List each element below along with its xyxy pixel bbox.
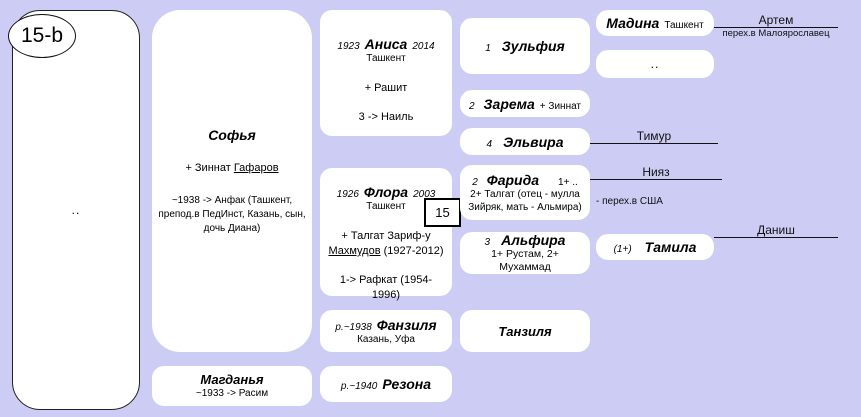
- zarema-header: 2 Зарема + Зиннат: [469, 96, 581, 112]
- relation-artem-sublabel: перех.в Малоярославец: [714, 28, 838, 39]
- box-alfira[interactable]: 3 Альфира 1+ Рустам, 2+ Мухаммад: [460, 232, 590, 274]
- genealogy-chart-canvas: .. 15-b Софья + Зиннат Гафаров ~1938 -> …: [0, 0, 861, 417]
- box-sofya[interactable]: Софья + Зиннат Гафаров ~1938 -> Анфак (Т…: [152, 10, 312, 352]
- zarema-spouse: + Зиннат: [540, 101, 581, 112]
- relation-niyaz-line: [590, 179, 722, 180]
- relation-niyaz-label: Нияз: [590, 165, 722, 179]
- flora-children: 1-> Рафкат (1954-1996): [326, 273, 446, 303]
- sheet-label-text: 15-b: [21, 24, 63, 48]
- sofya-spouse-prefix: + Зиннат: [185, 162, 230, 174]
- box-tanzilya[interactable]: Танзиля: [460, 310, 590, 352]
- sofya-children: ~1938 -> Анфак (Ташкент, препод.в ПедИнс…: [157, 194, 307, 236]
- farida-order: 2: [472, 177, 478, 188]
- anisa-children: 3 -> Наиль: [359, 110, 414, 125]
- flora-spouse-surname: Махмудов: [328, 245, 380, 257]
- column-1-placeholder: ..: [72, 203, 81, 217]
- box-rezona[interactable]: р.~1940 Резона: [320, 366, 452, 402]
- alfira-header: 3 Альфира: [485, 232, 566, 248]
- fanzilya-place: Казань, Уфа: [357, 333, 415, 346]
- relation-timur: Тимур: [590, 124, 718, 144]
- relation-danish-label: Даниш: [714, 223, 838, 237]
- fanzilya-name: Фанзиля: [377, 317, 437, 333]
- madina-place: Ташкент: [664, 20, 703, 31]
- sofya-spouse: + Зиннат Гафаров: [185, 161, 278, 176]
- zulfiya-header: 1 Зульфия: [485, 38, 565, 54]
- flora-header: 1926 Флора 2003: [337, 184, 436, 200]
- rezona-header: р.~1940 Резона: [341, 376, 431, 392]
- box-anisa[interactable]: 1923 Аниса 2014 Ташкент + Рашит 3 -> Наи…: [320, 10, 452, 136]
- zarema-order: 2: [469, 101, 475, 112]
- farida-name: Фарида: [487, 172, 539, 188]
- elvira-order: 4: [487, 139, 493, 150]
- relation-artem-label: Артем: [714, 13, 838, 27]
- elvira-name: Эльвира: [503, 134, 563, 150]
- relation-artem: Артем перех.в Малоярославец: [714, 6, 838, 28]
- box-farida[interactable]: 2 Фарида 1+ .. 2+ Талгат (отец - мулла З…: [460, 165, 590, 220]
- box-fanzilya[interactable]: р.~1938 Фанзиля Казань, Уфа: [320, 310, 452, 352]
- flora-spouse-line1: + Талгат Зариф-у: [341, 229, 430, 244]
- sheet-label-ellipse: 15-b: [8, 14, 76, 58]
- anisa-spouse: + Рашит: [365, 81, 408, 96]
- box-tamila[interactable]: (1+) Тамила: [596, 234, 714, 260]
- reference-number-text: 15: [435, 205, 449, 220]
- relation-danish: Даниш: [714, 218, 838, 238]
- magdanya-name: Магданья: [200, 372, 263, 387]
- flora-name: Флора: [364, 184, 408, 200]
- flora-place: Ташкент: [366, 200, 405, 213]
- madina-name: Мадина: [606, 15, 659, 31]
- rezona-birth: р.~1940: [341, 381, 377, 392]
- zulfiya-order: 1: [485, 43, 491, 54]
- anisa-name: Аниса: [365, 36, 408, 52]
- fanzilya-header: р.~1938 Фанзиля: [335, 317, 436, 333]
- flora-spouse-dates: (1927-2012): [384, 245, 444, 257]
- alfira-order: 3: [485, 237, 491, 248]
- box-flora[interactable]: 1926 Флора 2003 Ташкент + Талгат Зариф-у…: [320, 168, 452, 296]
- anisa-birth: 1923: [337, 41, 359, 52]
- box-magdanya[interactable]: Магданья ~1933 -> Расим: [152, 366, 312, 406]
- box-madina[interactable]: Мадина Ташкент: [596, 10, 714, 36]
- flora-birth: 1926: [337, 189, 359, 200]
- alfira-name: Альфира: [501, 232, 565, 248]
- alfira-detail: 1+ Рустам, 2+ Мухаммад: [464, 248, 586, 274]
- box-zulfiya[interactable]: 1 Зульфия: [460, 18, 590, 74]
- unnamed-child-label: ..: [651, 57, 660, 71]
- relation-timur-label: Тимур: [590, 129, 718, 143]
- anisa-death: 2014: [412, 41, 434, 52]
- note-moved-usa: - перех.в США: [596, 196, 663, 207]
- relation-danish-line: [714, 237, 838, 238]
- flora-spouse-line2: Махмудов (1927-2012): [328, 244, 443, 259]
- rezona-name: Резона: [382, 376, 431, 392]
- relation-timur-line: [590, 143, 718, 144]
- tamila-name: Тамила: [645, 239, 697, 255]
- fanzilya-birth: р.~1938: [335, 322, 371, 333]
- tanzilya-name: Танзиля: [498, 324, 551, 339]
- box-elvira[interactable]: 4 Эльвира: [460, 128, 590, 155]
- box-zarema[interactable]: 2 Зарема + Зиннат: [460, 90, 590, 117]
- anisa-header: 1923 Аниса 2014: [337, 36, 434, 52]
- sofya-name: Софья: [208, 127, 256, 143]
- zarema-name: Зарема: [484, 96, 535, 112]
- box-unnamed-child[interactable]: ..: [596, 50, 714, 78]
- elvira-header: 4 Эльвира: [487, 134, 564, 150]
- farida-header: 2 Фарида 1+ ..: [472, 172, 578, 188]
- farida-detail: 2+ Талгат (отец - мулла Зийряк, мать - А…: [463, 188, 587, 214]
- magdanya-detail: ~1933 -> Расим: [196, 387, 268, 400]
- zulfiya-name: Зульфия: [502, 38, 565, 54]
- tamila-header: (1+) Тамила: [614, 239, 697, 255]
- sofya-spouse-surname: Гафаров: [234, 162, 279, 174]
- panel-column-1[interactable]: ..: [12, 10, 140, 410]
- anisa-place: Ташкент: [366, 52, 405, 65]
- reference-number-box[interactable]: 15: [424, 198, 461, 227]
- farida-spouse-short: 1+ ..: [558, 177, 578, 188]
- relation-niyaz: Нияз: [590, 160, 722, 180]
- tamila-order: (1+): [614, 244, 632, 255]
- madina-header: Мадина Ташкент: [606, 15, 703, 31]
